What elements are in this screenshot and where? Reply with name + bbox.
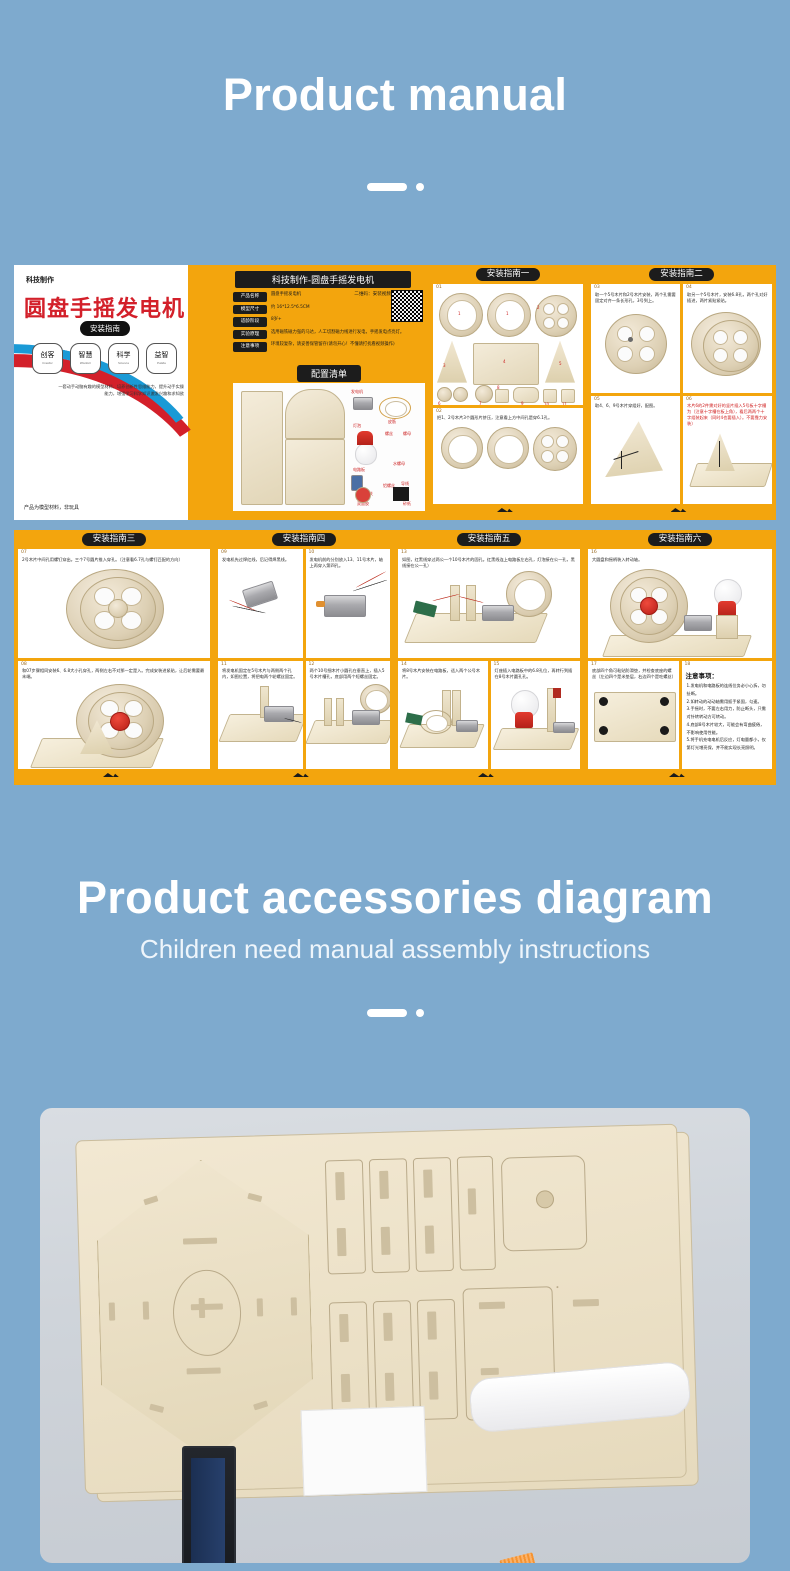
orange-coupler — [499, 1552, 538, 1563]
step-card-row: 17 底部四个角可粘贴防滑垫，并检查底座的螺丝（左边四个是米垫层，右边四个是吃螺… — [588, 661, 772, 770]
cover-badge-en: Wisdom — [80, 361, 91, 365]
bar-indicator — [367, 183, 407, 191]
spec-row: 产品名称 圆盘手摇发电机 — [233, 292, 425, 302]
step-caption: 2号木片中间孔用螺钉穿出。三个7号圆片推入穿孔。（注意看6.7孔与螺钉匹配的方向… — [18, 556, 210, 563]
cover-description: 一套动手动脑有趣的模型材料，培养创新性思维能力，提升动手实操能力，增强学习科学知… — [58, 383, 184, 397]
step-illustration — [433, 421, 583, 504]
step-caption: 取4、6、9号木片穿组好，配图。 — [591, 402, 680, 409]
manual-sheet-row-2: 安装指南三 07 2号木片中间孔用螺钉穿出。三个7号圆片推入穿孔。（注意看6.7… — [14, 530, 776, 785]
warning-item: 2.如转动的动动轴需用扳手紧固，匀速。 — [682, 698, 773, 706]
brand-logo-icon — [497, 508, 519, 512]
double-sided-tape — [301, 1406, 428, 1496]
guide-header-label: 安装指南五 — [457, 533, 522, 546]
spec-row: 适龄阶段 8岁+ — [233, 317, 425, 327]
guide-column-3: 安装指南三 07 2号木片中间孔用螺钉穿出。三个7号圆片推入穿孔。（注意看6.7… — [14, 530, 214, 785]
guide-header: 安装指南一 — [429, 265, 587, 284]
warning-item: 5.将手机充电电机后反应，灯电量都小，仅第灯光增亮保，并不能实现长亮照明。 — [682, 736, 773, 752]
step-card: 12 两个10号细木片小圆孔在垂直上，插入5号木片槽孔，底部用两个短螺丝固定。 — [306, 661, 391, 770]
step-number: 12 — [306, 661, 391, 668]
step-card: 16 大圆盘和摇柄装入转动轴。 — [588, 549, 772, 658]
step-number: 05 — [591, 396, 680, 403]
step-illustration — [218, 680, 303, 769]
spec-key: 产品名称 — [233, 292, 267, 302]
sheet-footer — [398, 772, 580, 778]
guide-header-label: 安装指南二 — [649, 268, 714, 281]
step-number: 15 — [491, 661, 581, 668]
step-illustration — [683, 427, 772, 504]
step-illustration: 1 1 2 3 4 5 — [433, 291, 583, 405]
step-number: 18 — [682, 661, 773, 668]
wood-piece-strip — [325, 1159, 366, 1274]
step-card: 05 取4、6、9号木片穿组好，配图。 — [591, 396, 680, 505]
cover-badge: 创客 Creator — [32, 343, 63, 374]
solar-panel — [182, 1446, 236, 1563]
spec-key: 模型尺寸 — [233, 305, 267, 315]
guide-column-2: 安装指南二 03 取一个5号木片和2号木片安装，两个孔需要固定对齐一条长形孔，3… — [587, 265, 776, 520]
step-illustration — [306, 569, 391, 658]
cover-badge-group: 创客 Creator 智慧 Wisdom 科学 Science 益智 Puzzl… — [32, 343, 177, 374]
spec-row: 实验原理 选用磁铁磁力强的马达，人工切割磁力线进行发电，手摇发电点亮灯。 — [233, 330, 425, 340]
step-caption: 灯座插入电路板中的6.8孔位，再转行到插在8号木片圆孔孔。 — [491, 667, 581, 680]
step-caption: 大圆盘和摇柄装入转动轴。 — [588, 556, 772, 563]
cover-subtitle-pill: 安装指南 — [80, 321, 130, 336]
brand-logo-icon — [478, 773, 500, 777]
step-card-warning: 18 注意事项： 1.发电机和电路板的连线位务必小心拆，勿扯断。 2.如转动的动… — [682, 661, 773, 770]
step-illustration — [218, 563, 303, 658]
manual-section-indicator — [0, 183, 790, 191]
spec-value: 8岁+ — [267, 317, 425, 323]
step-caption: 两个10号细木片小圆孔在垂直上，插入5号木片槽孔，底部用两个短螺丝固定。 — [306, 667, 391, 680]
spec-row: 注意事项 环境较复杂，请妥善保管留存(请勿开心！不懂请打扰看视频操作) — [233, 342, 425, 352]
spec-table: 产品名称 圆盘手摇发电机 模型尺寸 约 16*12.5*6.5CM 适龄阶段 8… — [233, 292, 425, 355]
sheet-footer — [588, 772, 772, 778]
step-number: 09 — [218, 549, 303, 556]
step-caption: 将发电机固定在5号木片与两侧两个孔内，如图位置，将把电两个轮螺丝固定。 — [218, 667, 303, 680]
step-card: 15 灯座插入电路板中的6.8孔位，再转行到插在8号木片圆孔孔。 — [491, 661, 581, 770]
spec-value: 圆盘手摇发电机 — [267, 292, 425, 298]
wood-piece-strip — [417, 1299, 458, 1420]
step-caption: 取一个5号木片和2号木片安装，两个孔需要固定对齐一条长形孔，3号到上。 — [591, 291, 680, 304]
step-number: 11 — [218, 661, 303, 668]
guide-column-4: 安装指南四 09 发电机先过焊红线，后记得焊黑线。 10 — [214, 530, 394, 785]
accessories-section-indicator — [0, 1009, 790, 1017]
step-caption: 如图，红黑线穿过两公一个10号木片的固孔。红黑线连上电路板左右孔，灯泡接在公一孔… — [398, 556, 580, 569]
step-caption: 发电机先过焊红线，后记得焊黑线。 — [218, 556, 303, 563]
cover-title: 圆盘手摇发电机 — [24, 291, 185, 323]
step-illustration — [18, 563, 210, 658]
step-number: 01 — [433, 284, 583, 291]
guide-card-wrap: 01 1 1 2 3 4 — [429, 284, 587, 520]
cover-badge: 科学 Science — [108, 343, 139, 374]
guide-card-wrap: 07 2号木片中间孔用螺钉穿出。三个7号圆片推入穿孔。（注意看6.7孔与螺钉匹配… — [14, 549, 214, 785]
step-number: 13 — [398, 549, 580, 556]
cover-badge-zh: 智慧 — [79, 352, 93, 359]
guide-header-label: 安装指南三 — [82, 533, 147, 546]
cover-badge-en: Science — [118, 361, 129, 365]
step-illustration — [588, 563, 772, 658]
cover-badge-zh: 创客 — [41, 352, 55, 359]
manual-sheet-row-1: 科技制作 圆盘手摇发电机 安装指南 创客 Creator 智慧 Wisdom 科… — [14, 265, 776, 520]
wood-piece-panel — [556, 1286, 558, 1288]
spec-panel-header: 科技制作-圆盘手摇发电机 — [235, 271, 411, 288]
step-card-row: 14 将8号木片安装在电路板，适入两个公号木片。 15 — [398, 661, 580, 770]
step-caption: 取另一个5号木片，安装6.8孔，两个孔对好插进，两片紧贴紧贴。 — [683, 291, 772, 304]
step-illustration — [398, 680, 488, 769]
guide-card-wrap: 03 取一个5号木片和2号木片安装，两个孔需要固定对齐一条长形孔，3号到上。 — [587, 284, 776, 520]
step-caption: 和07步骤相同安装6、6.8大小孔穿孔，两侧左右不对那一定是入。完成安装进紧贴，… — [18, 667, 210, 680]
step-number: 17 — [588, 661, 679, 668]
cover-footnote: 产品为模型材料，非玩具 — [24, 504, 79, 511]
wood-piece-strip — [413, 1157, 454, 1272]
step-number: 16 — [588, 549, 772, 556]
step-number: 10 — [306, 549, 391, 556]
step-caption: 将8号木片安装在电路板，适入两个公号木片。 — [398, 667, 488, 680]
sheet-footer — [218, 772, 390, 778]
step-card-row: 05 取4、6、9号木片穿组好，配图。 06 木片6的2件需对好的竖片插入5号板… — [591, 396, 772, 505]
step-card: 11 将发电机固定在5号木片与两侧两个孔内，如图位置，将把电两个轮螺丝固定。 — [218, 661, 303, 770]
step-number: 14 — [398, 661, 488, 668]
spec-key: 注意事项 — [233, 342, 267, 352]
step-illustration — [591, 304, 680, 393]
manual-section-title: Product manual — [0, 0, 790, 117]
step-card: 04 取另一个5号木片，安装6.8孔，两个孔对好插进，两片紧贴紧贴。 — [683, 284, 772, 393]
sheet-footer — [591, 507, 772, 513]
step-card: 13 如图，红黑线穿过两公一个10号木片的固孔。红黑线连上电路板左右孔，灯泡接在… — [398, 549, 580, 658]
step-card-row: 11 将发电机固定在5号木片与两侧两个孔内，如图位置，将把电两个轮螺丝固定。 1… — [218, 661, 390, 770]
step-card-row: 09 发电机先过焊红线，后记得焊黑线。 10 发电机前的分别放入13、11号木片… — [218, 549, 390, 658]
brand-logo-icon — [293, 773, 315, 777]
bar-indicator — [367, 1009, 407, 1017]
warning-item: 1.发电机和电路板的连线位务必小心拆，勿扯断。 — [682, 682, 773, 698]
step-number: 06 — [683, 396, 772, 403]
step-card: 02 把1、2号木片3个圆形片挤压，注意看上方中间孔是穿6.1孔。 — [433, 408, 583, 504]
spec-key: 适龄阶段 — [233, 317, 267, 327]
manual-cover-panel: 科技制作 圆盘手摇发电机 安装指南 创客 Creator 智慧 Wisdom 科… — [14, 265, 229, 520]
guide-card-wrap: 09 发电机先过焊红线，后记得焊黑线。 10 发电机前的分别放入13、11号木片… — [214, 549, 394, 785]
step-illustration — [18, 680, 210, 769]
sheet-footer — [433, 507, 583, 513]
guide-header: 安装指南四 — [214, 530, 394, 549]
warning-title: 注意事项： — [682, 667, 773, 682]
spec-key: 实验原理 — [233, 330, 267, 340]
cover-badge-en: Puzzle — [157, 361, 166, 365]
step-card: 14 将8号木片安装在电路板，适入两个公号木片。 — [398, 661, 488, 770]
guide-card-wrap: 13 如图，红黑线穿过两公一个10号木片的固孔。红黑线连上电路板左右孔，灯泡接在… — [394, 549, 584, 785]
step-card: 03 取一个5号木片和2号木片安装，两个孔需要固定对齐一条长形孔，3号到上。 — [591, 284, 680, 393]
wood-piece-strip — [373, 1300, 414, 1421]
spec-value: 约 16*12.5*6.5CM — [267, 305, 425, 311]
brand-logo-icon — [671, 508, 693, 512]
step-illustration — [398, 569, 580, 658]
cover-badge-en: Creator — [42, 361, 52, 365]
spec-value: 环境较复杂，请妥善保管留存(请勿开心！不懂请打扰看视频操作) — [267, 342, 425, 348]
step-number: 08 — [18, 661, 210, 668]
sheet-footer — [18, 772, 210, 778]
step-caption: 底部四个角可粘贴防滑垫，并检查底座的螺丝（左边四个是米垫层，右边四个是吃螺丝） — [588, 667, 679, 680]
spec-row: 模型尺寸 约 16*12.5*6.5CM — [233, 305, 425, 315]
accessories-photo — [40, 1108, 750, 1563]
step-card: 17 底部四个角可粘贴防滑垫，并检查底座的螺丝（左边四个是米垫层，右边四个是吃螺… — [588, 661, 679, 770]
step-illustration — [683, 304, 772, 393]
step-illustration — [306, 680, 391, 769]
cover-kicker: 科技制作 — [26, 275, 54, 285]
step-illustration — [491, 680, 581, 769]
guide-header: 安装指南五 — [394, 530, 584, 549]
step-number: 02 — [433, 408, 583, 415]
guide-header-label: 安装指南一 — [476, 268, 541, 281]
parts-list-title: 配置清单 — [297, 365, 361, 382]
cover-badge: 益智 Puzzle — [146, 343, 177, 374]
manual-section-header: Product manual — [0, 0, 790, 117]
cover-badge-zh: 科学 — [117, 352, 131, 359]
guide-column-6: 安装指南六 16 大圆盘和摇柄装入转动轴。 — [584, 530, 776, 785]
step-card: 10 发电机前的分别放入13、11号木片，轴上再穿入第四孔。 — [306, 549, 391, 658]
guide-card-wrap: 16 大圆盘和摇柄装入转动轴。 — [584, 549, 776, 785]
step-card: 07 2号木片中间孔用螺钉穿出。三个7号圆片推入穿孔。（注意看6.7孔与螺钉匹配… — [18, 549, 210, 658]
step-illustration — [591, 409, 680, 504]
brand-logo-icon — [669, 773, 691, 777]
cover-badge-zh: 益智 — [155, 352, 169, 359]
spec-panel: 科技制作-圆盘手摇发电机 二维码：安装视频 产品名称 圆盘手摇发电机 模型尺寸 … — [229, 265, 429, 520]
step-card: 06 木片6的2件需对好的竖片插入5号板十字槽为（注意十字槽在板上角），看后两两… — [683, 396, 772, 505]
step-caption: 发电机前的分别放入13、11号木片，轴上再穿入第四孔。 — [306, 556, 391, 569]
warning-item: 3.手摇时，不要左右用力，防止断头，只需对针转转动方可转动。 — [682, 705, 773, 721]
guide-column-5: 安装指南五 13 如图，红黑线穿过两公一个10号木片的固孔。红黑线连上电路板左右… — [394, 530, 584, 785]
step-number: 03 — [591, 284, 680, 291]
guide-header-label: 安装指南六 — [648, 533, 713, 546]
accessories-section-title: Product accessories diagram — [0, 875, 790, 920]
guide-header: 安装指南六 — [584, 530, 776, 549]
cover-badge: 智慧 Wisdom — [70, 343, 101, 374]
dot-indicator — [416, 1009, 424, 1017]
accessories-section-subtitle: Children need manual assembly instructio… — [0, 934, 790, 965]
warning-item: 4.底部8号木片较大，可能会有弯曲疲倦，不影响使用性能。 — [682, 721, 773, 737]
dot-indicator — [416, 183, 424, 191]
guide-header: 安装指南三 — [14, 530, 214, 549]
product-detail-page: Product manual 科技制作 圆盘手摇发电机 安装指南 创客 Crea… — [0, 0, 790, 1571]
guide-header: 安装指南二 — [587, 265, 776, 284]
step-number: 04 — [683, 284, 772, 291]
guide-column-1: 安装指南一 01 1 1 2 — [429, 265, 587, 520]
guide-header-label: 安装指南四 — [272, 533, 337, 546]
step-card: 01 1 1 2 3 4 — [433, 284, 583, 405]
step-card: 08 和07步骤相同安装6、6.8大小孔穿孔，两侧左右不对那一定是入。完成安装进… — [18, 661, 210, 770]
step-card: 09 发电机先过焊红线，后记得焊黑线。 — [218, 549, 303, 658]
wood-piece-strip — [329, 1301, 370, 1422]
step-illustration — [588, 680, 679, 769]
parts-list-photo: 发电机 皮筋 灯泡 螺丝 螺母 电路板 水螺母 导线 开关 铝螺丝 双面胶 砂纸 — [233, 383, 425, 511]
step-caption: 把1、2号木片3个圆形片挤压，注意看上方中间孔是穿6.1孔。 — [433, 414, 583, 421]
wood-piece-strip — [369, 1158, 410, 1273]
spec-value: 选用磁铁磁力强的马达，人工切割磁力线进行发电，手摇发电点亮灯。 — [267, 330, 425, 336]
accessories-section-header: Product accessories diagram Children nee… — [0, 875, 790, 1017]
step-number: 07 — [18, 549, 210, 556]
step-caption: 木片6的2件需对好的竖片插入5号板十字槽为（注意十字槽在板上角），看后两两个十字… — [683, 402, 772, 427]
step-card-row: 03 取一个5号木片和2号木片安装，两个孔需要固定对齐一条长形孔，3号到上。 — [591, 284, 772, 393]
brand-logo-icon — [103, 773, 125, 777]
